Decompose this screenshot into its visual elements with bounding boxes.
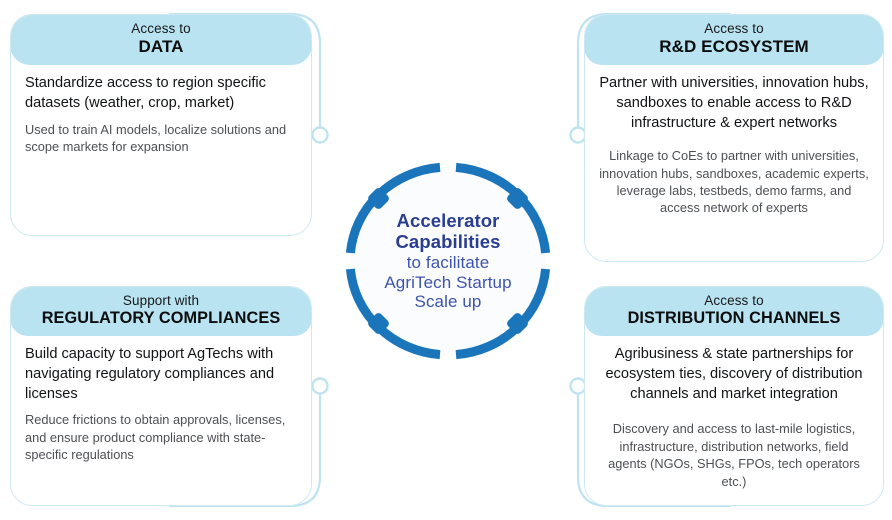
card-body-rd-ecosystem: Partner with universities, innovation hu… — [585, 65, 883, 227]
card-lead-regulatory-compliances: Build capacity to support AgTechs with n… — [25, 345, 297, 404]
card-body-data: Standardize access to region specific da… — [11, 65, 311, 165]
card-kicker-regulatory-compliances: Support with — [24, 293, 298, 308]
accelerator-capabilities-diagram: Access to DATA Standardize access to reg… — [0, 0, 892, 520]
hub-light-line-2: AgriTech Startup — [384, 273, 511, 293]
hub-text-block: Accelerator Capabilities to facilitate A… — [332, 150, 564, 372]
card-header-pill-regulatory-compliances: Support with REGULATORY COMPLIANCES — [10, 286, 312, 336]
card-lead-distribution-channels: Agribusiness & state partnerships for ec… — [599, 345, 869, 404]
card-body-regulatory-compliances: Build capacity to support AgTechs with n… — [11, 336, 311, 473]
card-sub-data: Used to train AI models, localize soluti… — [25, 121, 297, 156]
card-access-to-distribution-channels[interactable]: Access to DISTRIBUTION CHANNELS Agribusi… — [584, 286, 884, 506]
card-header-pill-data: Access to DATA — [10, 14, 312, 65]
connector-node-bottom-left — [313, 379, 328, 394]
card-kicker-data: Access to — [24, 21, 298, 36]
card-header-pill-distribution-channels: Access to DISTRIBUTION CHANNELS — [584, 286, 884, 336]
card-title-data: DATA — [24, 37, 298, 56]
card-title-regulatory-compliances: REGULATORY COMPLIANCES — [24, 309, 298, 327]
hub-light-line-1: to facilitate — [407, 253, 490, 273]
hub-light-line-3: Scale up — [415, 292, 482, 312]
card-sub-distribution-channels: Discovery and access to last-mile logist… — [599, 420, 869, 490]
card-access-to-data[interactable]: Access to DATA Standardize access to reg… — [10, 14, 312, 236]
card-kicker-rd-ecosystem: Access to — [598, 21, 870, 36]
card-kicker-distribution-channels: Access to — [598, 293, 870, 308]
card-lead-data: Standardize access to region specific da… — [25, 74, 297, 113]
card-title-distribution-channels: DISTRIBUTION CHANNELS — [598, 309, 870, 327]
card-sub-regulatory-compliances: Reduce frictions to obtain approvals, li… — [25, 411, 297, 463]
hub-strong-line-2: Capabilities — [395, 231, 500, 252]
hub-strong-line-1: Accelerator — [397, 210, 500, 231]
card-lead-rd-ecosystem: Partner with universities, innovation hu… — [599, 74, 869, 133]
card-support-with-regulatory-compliances[interactable]: Support with REGULATORY COMPLIANCES Buil… — [10, 286, 312, 506]
card-sub-rd-ecosystem: Linkage to CoEs to partner with universi… — [599, 147, 869, 217]
card-title-rd-ecosystem: R&D ECOSYSTEM — [598, 37, 870, 56]
connector-node-top-left — [313, 128, 328, 143]
card-header-pill-rd-ecosystem: Access to R&D ECOSYSTEM — [584, 14, 884, 65]
center-hub[interactable]: Accelerator Capabilities to facilitate A… — [332, 150, 564, 372]
card-body-distribution-channels: Agribusiness & state partnerships for ec… — [585, 336, 883, 500]
card-access-to-rd-ecosystem[interactable]: Access to R&D ECOSYSTEM Partner with uni… — [584, 14, 884, 262]
